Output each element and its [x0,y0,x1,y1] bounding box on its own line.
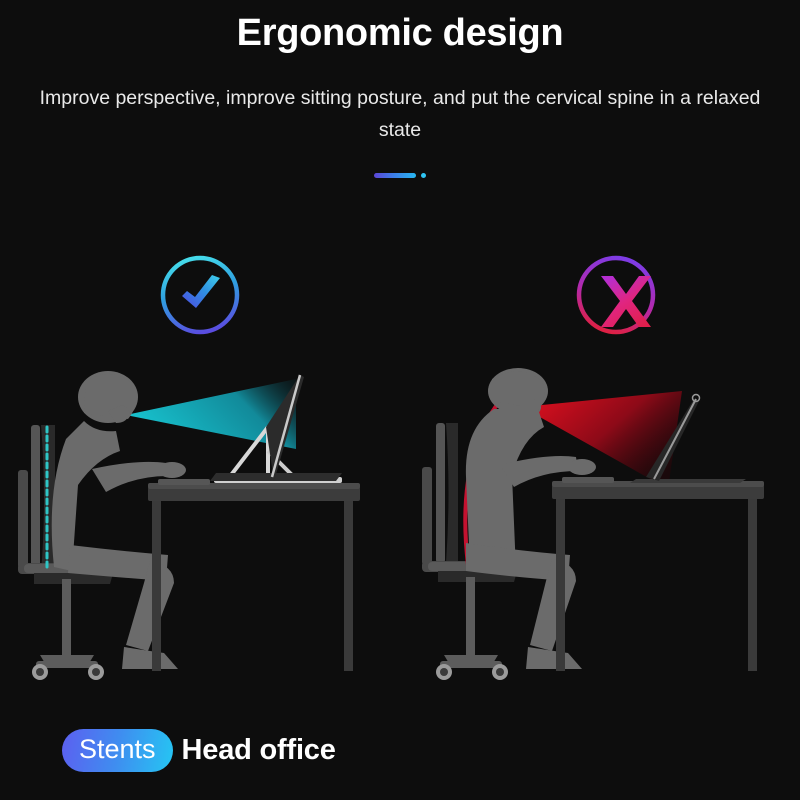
bad-posture-illustration [400,365,800,695]
bad-posture-column: No bracket Long stoop [400,0,800,800]
ergonomic-design-page: Ergonomic design Improve perspective, im… [0,0,800,800]
head-office-caption: Head office [182,734,336,767]
check-circle-icon [154,249,246,341]
good-posture-illustration [0,365,400,695]
x-circle-icon [570,249,662,341]
good-posture-label-row: Stents Head office [62,729,336,772]
good-posture-column: Stents Head office [0,0,400,800]
stents-badge: Stents [62,729,173,772]
